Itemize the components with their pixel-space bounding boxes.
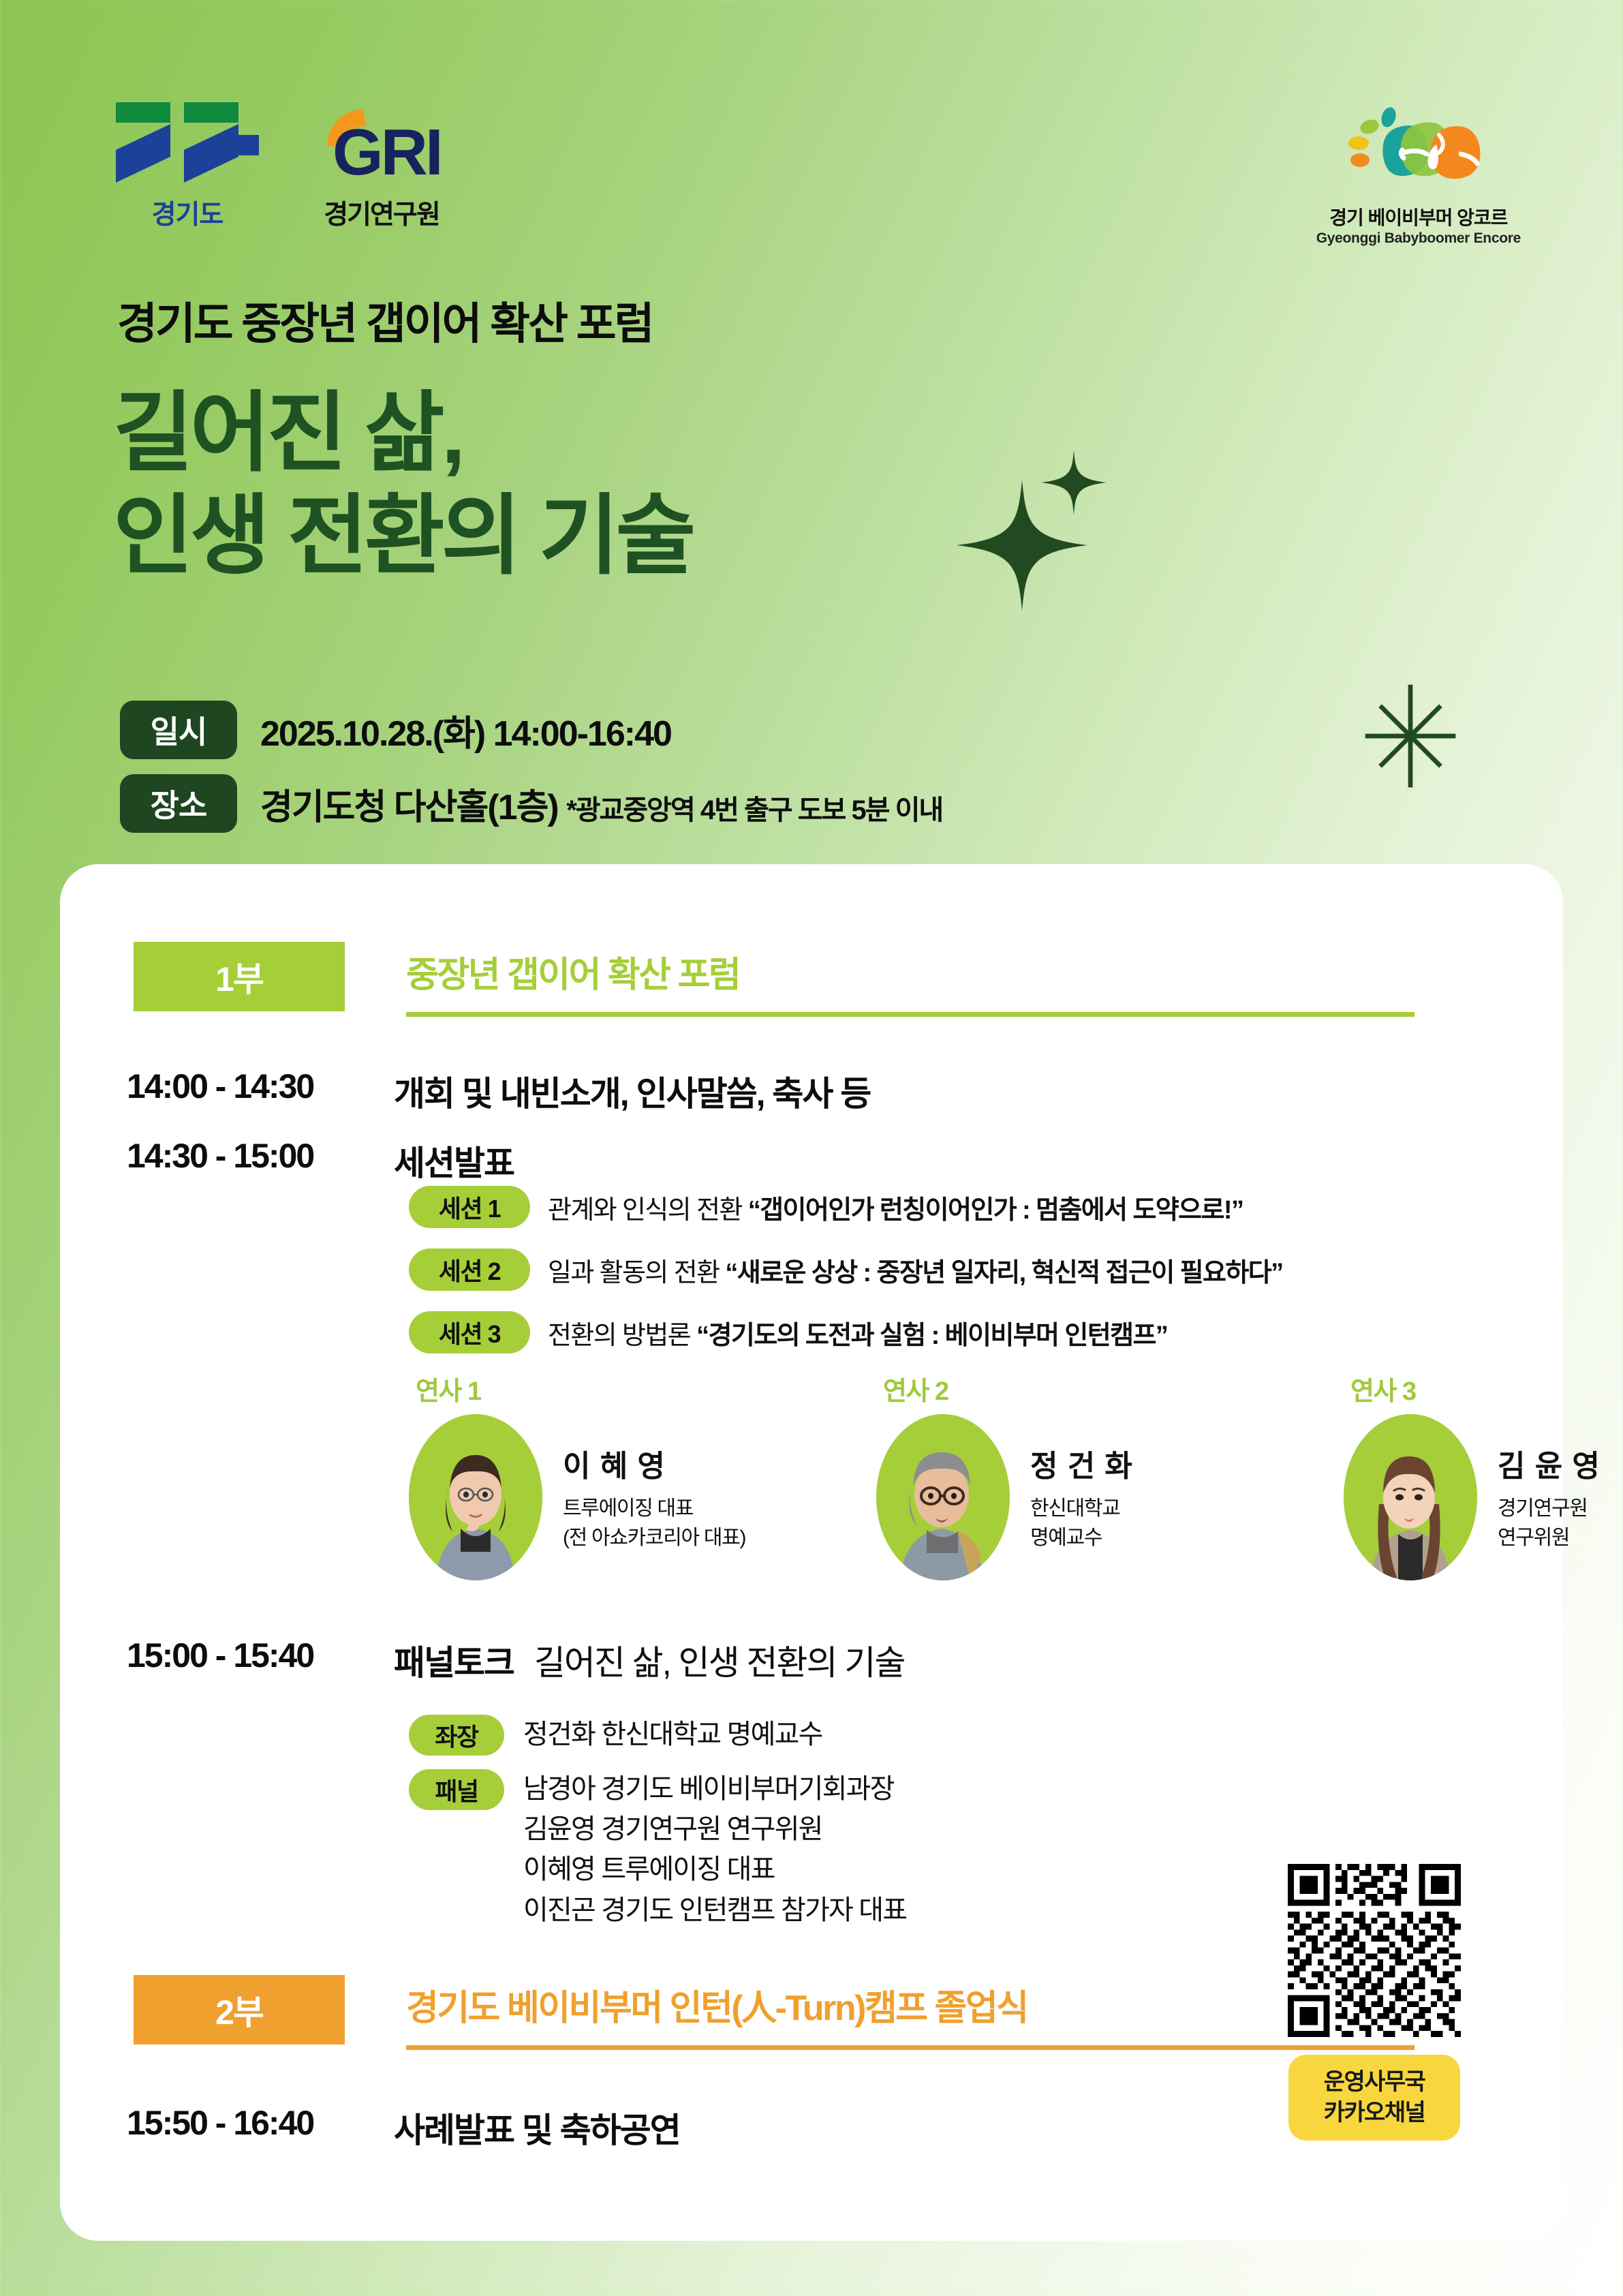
part1-badge: 1부	[134, 942, 345, 1011]
speaker-2-avatar	[876, 1414, 1010, 1580]
part1-title: 중장년 갭이어 확산 포럼	[406, 946, 1415, 997]
paneltalk-time: 15:00 - 15:40	[127, 1636, 394, 1675]
speaker-1-name: 이 혜 영	[563, 1441, 745, 1485]
paneltalk-heading: 패널토크 길어진 삶, 인생 전환의 기술	[394, 1636, 904, 1685]
panel-pill: 패널	[409, 1769, 504, 1810]
session-3-quote: “경기도의 도전과 실험 : 베이비부머 인턴캠프”	[696, 1321, 1167, 1350]
speaker-3-name: 김 윤 영	[1498, 1441, 1601, 1485]
speaker-2-role-2: 명예교수	[1030, 1524, 1133, 1553]
paneltalk-label: 패널토크	[394, 1644, 514, 1682]
sparkle-small-icon	[1038, 447, 1109, 518]
part2-badge: 2부	[134, 1975, 345, 2045]
speaker-3-label: 연사 3	[1344, 1370, 1623, 1407]
info-row-date: 일시 2025.10.28.(화) 14:00-16:40	[120, 701, 942, 759]
speaker-card: 연사 3	[1344, 1370, 1623, 1580]
row-time: 15:50 - 16:40	[127, 2103, 394, 2143]
speaker-1-avatar	[409, 1414, 542, 1580]
speaker-2-role-1: 한신대학교	[1030, 1495, 1133, 1524]
venue-label: 장소	[120, 774, 237, 833]
gri-logo-text: 경기연구원	[324, 194, 439, 232]
session-2-pill: 세션 2	[409, 1249, 530, 1291]
session-3-pill: 세션 3	[409, 1311, 530, 1353]
panel-roster: 좌장 정건화 한신대학교 명예교수 패널 남경아 경기도 베이비부머기회과장 김…	[409, 1715, 906, 1944]
session-2-prefix: 일과 활동의 전환	[548, 1259, 719, 1287]
venue-value: 경기도청 다산홀(1층) *광교중앙역 4번 출구 도보 5분 이내	[260, 778, 942, 829]
paneltalk-subject: 길어진 삶, 인생 전환의 기술	[534, 1644, 904, 1682]
list-item: 세션 2 일과 활동의 전환 “새로운 상상 : 중장년 일자리, 혁신적 접근…	[409, 1249, 1282, 1291]
headline-line-1: 길어진 삶,	[113, 382, 692, 485]
speaker-3-avatar	[1344, 1414, 1477, 1580]
venue-main: 경기도청 다산홀(1층)	[260, 788, 558, 827]
speaker-card: 연사 2	[876, 1370, 1265, 1580]
event-info: 일시 2025.10.28.(화) 14:00-16:40 장소 경기도청 다산…	[120, 701, 942, 848]
panelist-2: 김윤영 경기연구원 연구위원	[523, 1809, 906, 1850]
session-3-text: 전환의 방법론 “경기도의 도전과 실험 : 베이비부머 인턴캠프”	[548, 1314, 1167, 1351]
kakao-caption-1: 운영사무국	[1288, 2067, 1460, 2098]
schedule-row: 14:00 - 14:30 개회 및 내빈소개, 인사말씀, 축사 등	[127, 1067, 870, 1116]
row-time: 14:30 - 15:00	[127, 1136, 394, 1176]
gyeonggi-mark-icon	[116, 102, 259, 184]
panelist-1: 남경아 경기도 베이비부머기회과장	[523, 1769, 906, 1809]
chair-pill: 좌장	[409, 1715, 504, 1756]
schedule-row: 14:30 - 15:00 세션발표	[127, 1136, 514, 1185]
forum-kicker: 경기도 중장년 갭이어 확산 포럼	[117, 289, 653, 352]
speaker-list: 연사 1	[409, 1370, 1623, 1580]
row-desc: 세션발표	[394, 1136, 514, 1185]
speaker-2-name: 정 건 화	[1030, 1441, 1133, 1485]
session-1-prefix: 관계와 인식의 전환	[548, 1196, 742, 1225]
qr-code[interactable]	[1288, 1864, 1461, 2037]
sparkle-large-icon	[954, 477, 1090, 613]
speaker-1-role-1: 트루에이징 대표	[563, 1495, 745, 1524]
session-3-prefix: 전환의 방법론	[548, 1321, 690, 1350]
part1-badge-label: 1부	[215, 952, 263, 1001]
gbe-mark-icon	[1330, 95, 1507, 198]
part2-title: 경기도 베이비부머 인턴(人-Turn)캠프 졸업식	[406, 1979, 1415, 2030]
session-2-quote: “새로운 상상 : 중장년 일자리, 혁신적 접근이 필요하다”	[725, 1259, 1282, 1287]
gri-logo: GRI 경기연구원	[313, 106, 450, 232]
panelist-3: 이혜영 트루에이징 대표	[523, 1850, 906, 1890]
speaker-1-label: 연사 1	[409, 1370, 797, 1407]
list-item: 세션 3 전환의 방법론 “경기도의 도전과 실험 : 베이비부머 인턴캠프”	[409, 1311, 1282, 1353]
gbe-logo-english: Gyeonggi Babyboomer Encore	[1316, 230, 1521, 247]
svg-text:GRI: GRI	[333, 116, 441, 187]
row-desc: 사례발표 및 축하공연	[394, 2103, 680, 2152]
partner-logos: 경기도 GRI 경기연구원	[116, 102, 450, 232]
gyeonggi-province-logo: 경기도	[116, 102, 259, 232]
gyeonggi-logo-text: 경기도	[152, 194, 223, 232]
info-row-venue: 장소 경기도청 다산홀(1층) *광교중앙역 4번 출구 도보 5분 이내	[120, 774, 942, 833]
venue-note: *광교중앙역 4번 출구 도보 5분 이내	[566, 795, 942, 825]
gbe-logo-korean: 경기 베이비부머 앙코르	[1329, 203, 1507, 230]
session-1-quote: “갭이어인가 런칭이어인가 : 멈춤에서 도약으로!”	[748, 1196, 1243, 1225]
panel-chair-row: 좌장 정건화 한신대학교 명예교수	[409, 1715, 906, 1756]
starburst-icon	[1359, 682, 1462, 791]
page-title: 길어진 삶, 인생 전환의 기술	[113, 382, 692, 587]
panelist-4: 이진곤 경기도 인턴캠프 참가자 대표	[523, 1891, 906, 1931]
kakao-channel-button[interactable]: 운영사무국 카카오채널	[1288, 2055, 1460, 2141]
gbe-logo: 경기 베이비부머 앙코르 Gyeonggi Babyboomer Encore	[1316, 95, 1521, 247]
session-1-text: 관계와 인식의 전환 “갭이어인가 런칭이어인가 : 멈춤에서 도약으로!”	[548, 1189, 1243, 1226]
schedule-row: 15:50 - 16:40 사례발표 및 축하공연	[127, 2103, 680, 2152]
part1-rule	[406, 1012, 1415, 1017]
part1-header: 1부 중장년 갭이어 확산 포럼	[134, 942, 1415, 1017]
part2-header: 2부 경기도 베이비부머 인턴(人-Turn)캠프 졸업식	[134, 1975, 1415, 2050]
panelist-list: 남경아 경기도 베이비부머기회과장 김윤영 경기연구원 연구위원 이혜영 트루에…	[523, 1769, 906, 1931]
speaker-3-role-2: 연구위원	[1498, 1524, 1601, 1553]
headline-line-2: 인생 전환의 기술	[113, 485, 692, 587]
part2-badge-label: 2부	[215, 1985, 263, 2034]
speaker-card: 연사 1	[409, 1370, 797, 1580]
schedule-row-paneltalk: 15:00 - 15:40 패널토크 길어진 삶, 인생 전환의 기술	[127, 1636, 904, 1685]
gri-mark-icon: GRI	[313, 106, 450, 187]
session-2-text: 일과 활동의 전환 “새로운 상상 : 중장년 일자리, 혁신적 접근이 필요하…	[548, 1251, 1282, 1289]
kakao-caption-2: 카카오채널	[1288, 2098, 1460, 2128]
list-item: 세션 1 관계와 인식의 전환 “갭이어인가 런칭이어인가 : 멈춤에서 도약으…	[409, 1186, 1282, 1228]
date-value: 2025.10.28.(화) 14:00-16:40	[260, 705, 671, 756]
panel-members-row: 패널 남경아 경기도 베이비부머기회과장 김윤영 경기연구원 연구위원 이혜영 …	[409, 1769, 906, 1931]
speaker-3-role-1: 경기연구원	[1498, 1495, 1601, 1524]
part2-rule	[406, 2045, 1415, 2050]
kakao-channel-block[interactable]: 운영사무국 카카오채널	[1288, 1864, 1461, 2141]
row-time: 14:00 - 14:30	[127, 1067, 394, 1106]
row-desc: 개회 및 내빈소개, 인사말씀, 축사 등	[394, 1067, 870, 1116]
speaker-2-label: 연사 2	[876, 1370, 1265, 1407]
session-1-pill: 세션 1	[409, 1186, 530, 1228]
chair-name: 정건화 한신대학교 명예교수	[523, 1715, 822, 1755]
date-label: 일시	[120, 701, 237, 759]
speaker-1-role-2: (전 아쇼카코리아 대표)	[563, 1524, 745, 1553]
session-list: 세션 1 관계와 인식의 전환 “갭이어인가 런칭이어인가 : 멈춤에서 도약으…	[409, 1186, 1282, 1374]
